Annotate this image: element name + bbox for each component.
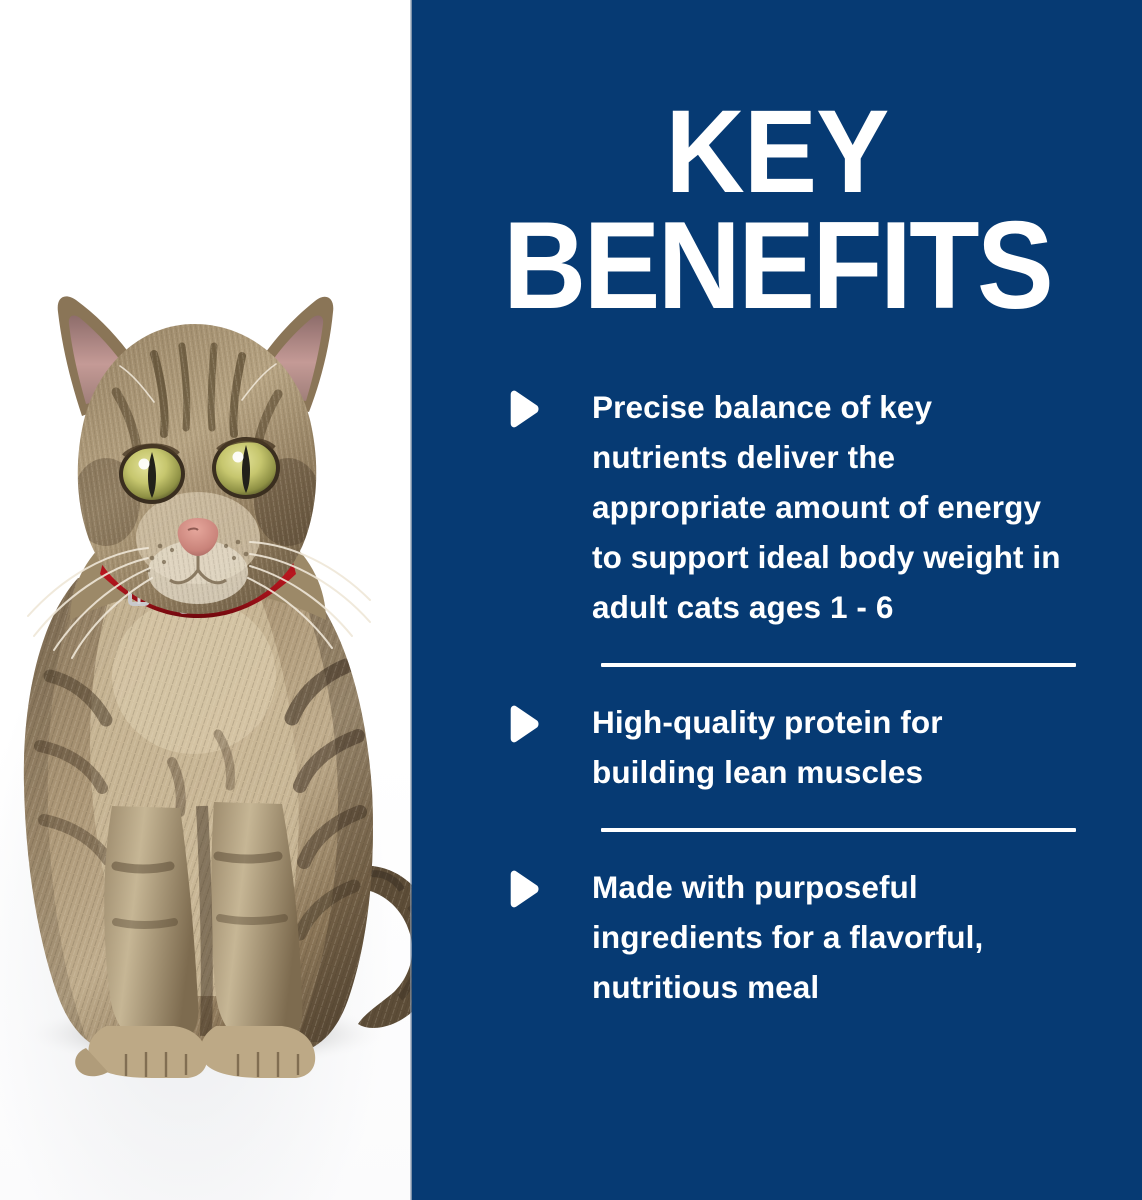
benefits-list: Precise balance of key nutrients deliver… bbox=[412, 382, 1142, 1012]
benefit-text-3: Made with purposeful ingredients for a f… bbox=[592, 862, 1064, 1012]
cat-photo-panel bbox=[0, 0, 412, 1200]
benefit-divider-2 bbox=[601, 828, 1076, 832]
triangle-right-icon bbox=[504, 705, 542, 743]
key-benefits-graphic: KEY BENEFITS Precise balance of key nutr… bbox=[0, 0, 1142, 1200]
cat-photo-image bbox=[0, 206, 412, 1106]
benefit-text-2: High-quality protein for building lean m… bbox=[592, 697, 1064, 797]
title-line-2: BENEFITS bbox=[438, 208, 1117, 326]
benefit-text-1: Precise balance of key nutrients deliver… bbox=[592, 382, 1064, 632]
benefit-item-1: Precise balance of key nutrients deliver… bbox=[412, 382, 1142, 632]
benefit-item-2: High-quality protein for building lean m… bbox=[412, 697, 1142, 797]
key-benefits-panel: KEY BENEFITS Precise balance of key nutr… bbox=[412, 0, 1142, 1200]
triangle-right-icon bbox=[504, 870, 542, 908]
benefit-item-3: Made with purposeful ingredients for a f… bbox=[412, 862, 1142, 1012]
title-line-1: KEY bbox=[438, 96, 1117, 208]
triangle-right-icon bbox=[504, 390, 542, 428]
page-title: KEY BENEFITS bbox=[438, 96, 1117, 326]
benefit-divider-1 bbox=[601, 663, 1076, 667]
